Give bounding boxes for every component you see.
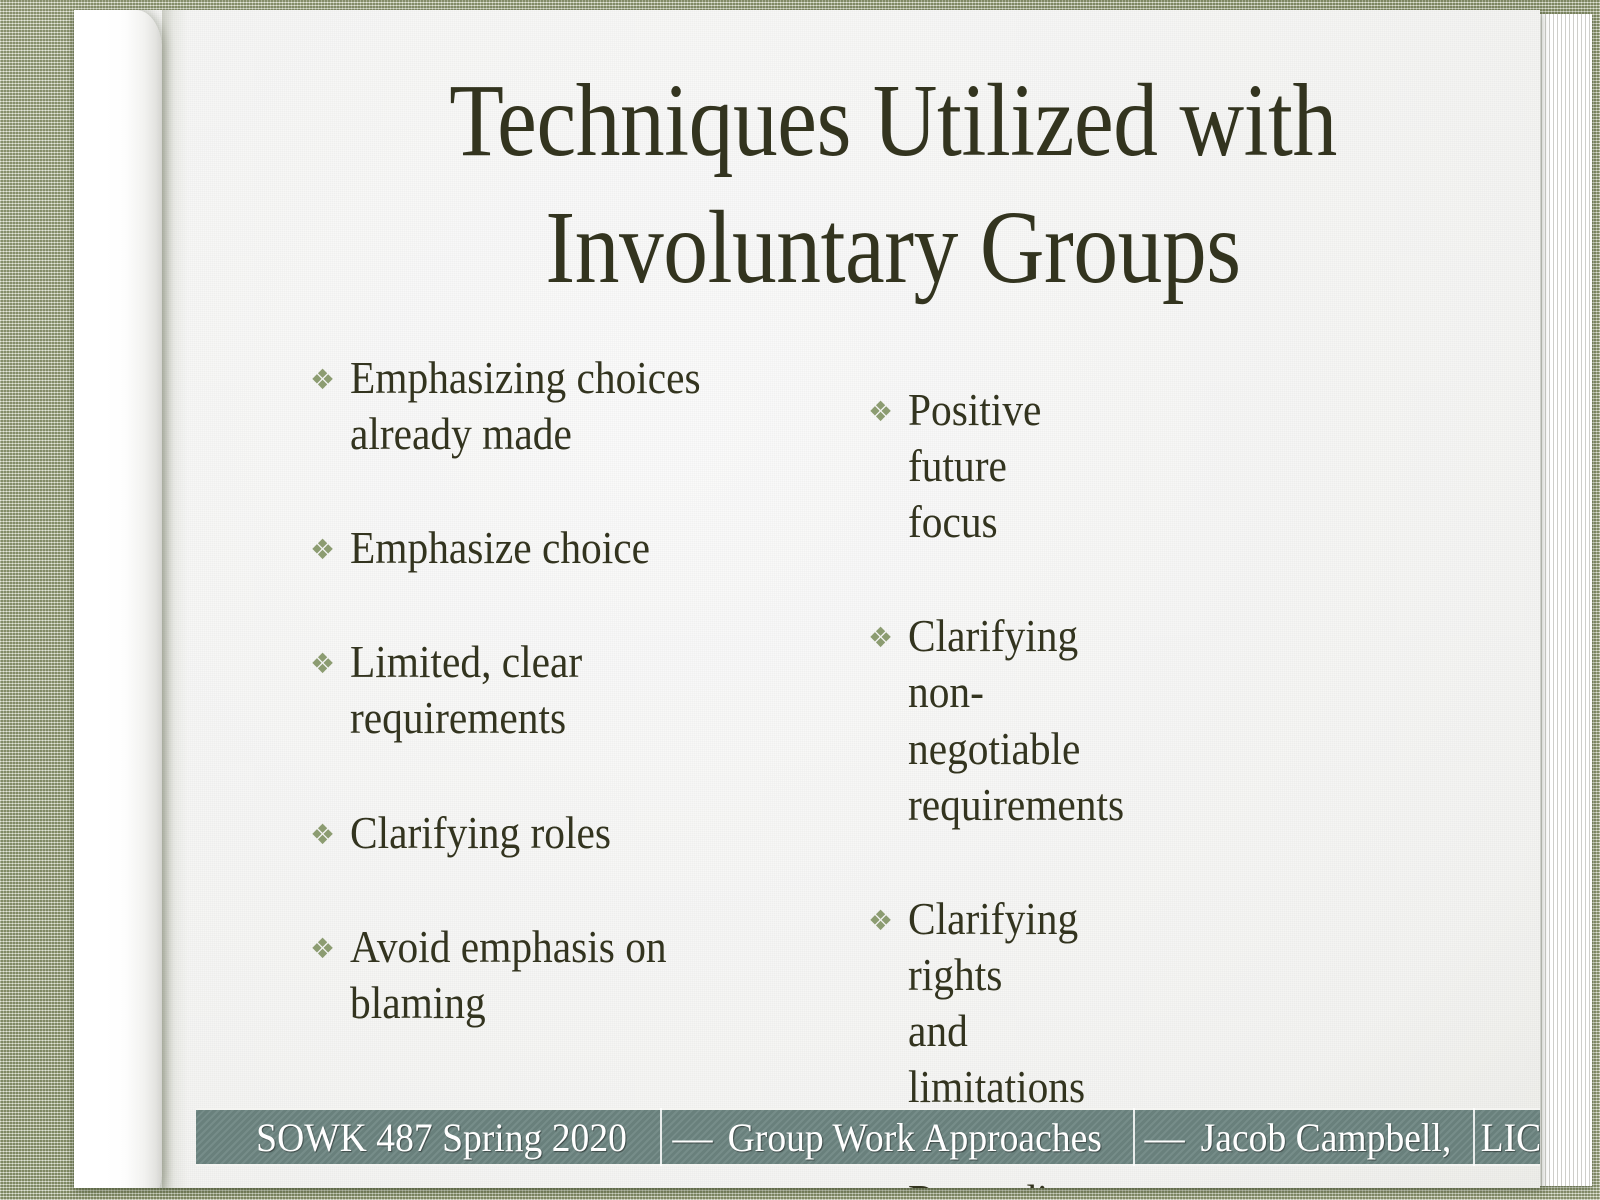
list-item-label: Avoid emphasis on blaming xyxy=(350,919,708,1031)
footer-course-label: SOWK 487 Spring 2020 xyxy=(196,1114,633,1161)
list-item: ❖ Limited, clear requirements xyxy=(310,634,748,746)
list-item: ❖ Rewarding acknowledging responsibility xyxy=(868,1173,948,1188)
list-item: ❖ Emphasize choice xyxy=(310,520,748,576)
list-item-label: Rewarding acknowledging responsibility xyxy=(908,1173,989,1188)
page-curl-shadow xyxy=(162,10,188,1188)
list-item-label: Clarifying rights and limitations xyxy=(908,891,989,1115)
slide-frame: Techniques Utilized with Involuntary Gro… xyxy=(0,0,1600,1200)
list-item: ❖ Clarifying non-negotiable requirements xyxy=(868,608,948,832)
list-item-label: Clarifying non-negotiable requirements xyxy=(908,608,989,832)
list-item: ❖ Positive future focus xyxy=(868,382,948,550)
footer-separator-2: — xyxy=(1135,1114,1195,1161)
footer-separator-1: — xyxy=(662,1114,722,1161)
list-item-label: Clarifying roles xyxy=(350,805,708,861)
page-title: Techniques Utilized with Involuntary Gro… xyxy=(338,58,1447,312)
list-item-label: Limited, clear requirements xyxy=(350,634,708,746)
list-item-label: Emphasize choice xyxy=(350,520,708,576)
diamond-bullet-icon: ❖ xyxy=(868,382,908,426)
slide-content: Techniques Utilized with Involuntary Gro… xyxy=(188,20,1540,1188)
footer-topic-label: Group Work Approaches xyxy=(722,1114,1108,1161)
diamond-bullet-icon: ❖ xyxy=(868,1173,908,1188)
footer-presenter-credential: LICSW xyxy=(1475,1114,1540,1161)
list-item: ❖ Clarifying rights and limitations xyxy=(868,891,948,1115)
diamond-bullet-icon: ❖ xyxy=(868,608,908,652)
diamond-bullet-icon: ❖ xyxy=(868,891,908,935)
slide-footer: SOWK 487 Spring 2020 — Group Work Approa… xyxy=(196,1108,1540,1166)
list-item: ❖ Emphasizing choices already made xyxy=(310,350,748,462)
bullet-column-right: ❖ Positive future focus ❖ Clarifying non… xyxy=(248,350,948,1188)
bullet-columns: ❖ Emphasizing choices already made ❖ Emp… xyxy=(188,350,1540,1188)
list-item-label: Positive future focus xyxy=(908,382,989,550)
list-item: ❖ Avoid emphasis on blaming xyxy=(310,919,748,1031)
page-curl-binding xyxy=(74,10,162,1188)
slide-paper: Techniques Utilized with Involuntary Gro… xyxy=(74,10,1540,1188)
list-item-label: Emphasizing choices already made xyxy=(350,350,708,462)
list-item: ❖ Clarifying roles xyxy=(310,805,748,861)
footer-presenter-name: Jacob Campbell, xyxy=(1195,1114,1457,1161)
